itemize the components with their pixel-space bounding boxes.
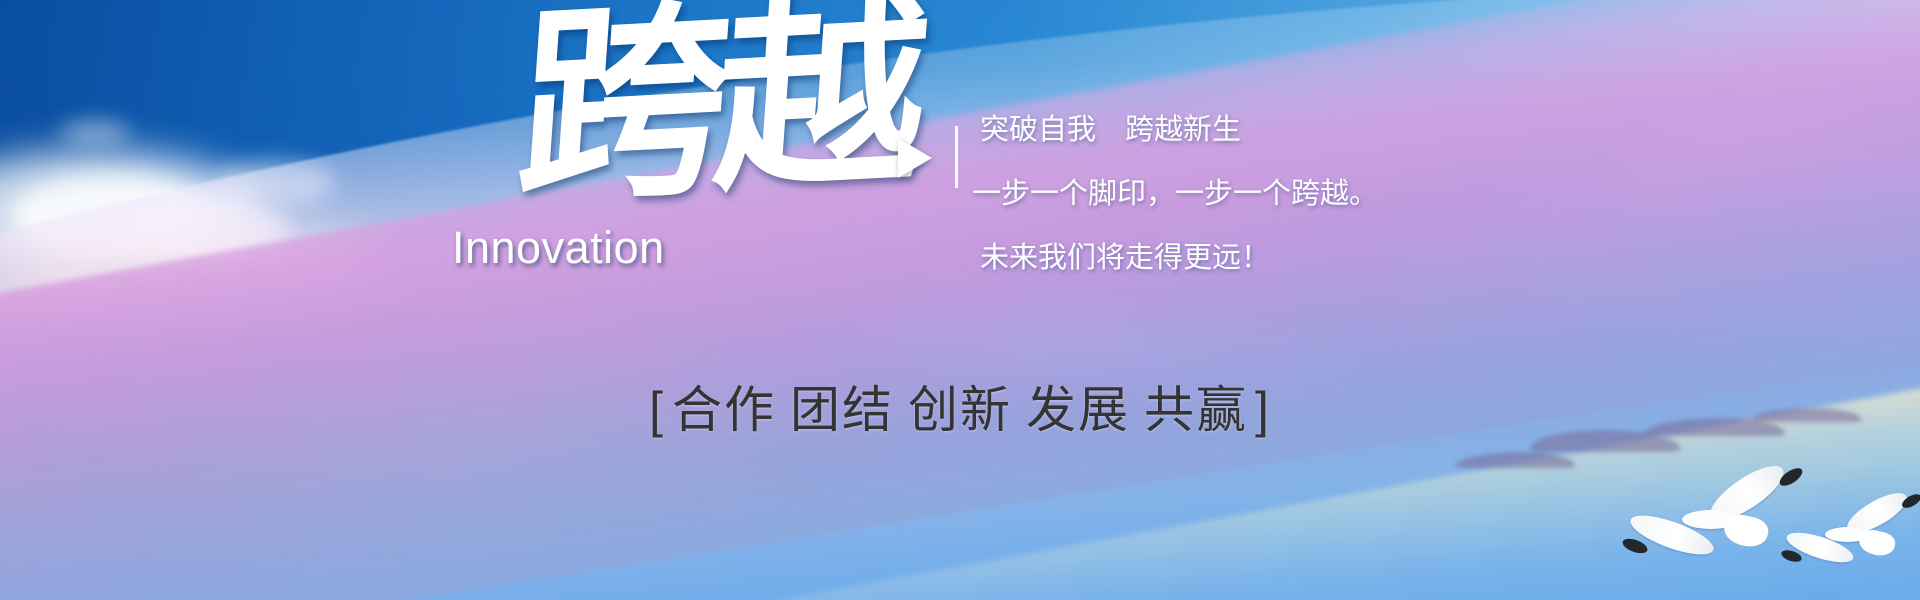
vertical-divider <box>955 126 958 188</box>
tagline-line-1: 突破自我 跨越新生 <box>980 116 1378 145</box>
slogan-word-2: 团结 <box>790 382 894 438</box>
banner-stage: 跨越 Innovation 突破自我 跨越新生 一步一个脚印，一步一个跨越。 未… <box>0 0 1920 600</box>
slogan-word-1: 合作 <box>672 382 776 438</box>
slogan-open-bracket: [ <box>649 382 665 438</box>
brand-calligraphy: 跨越 <box>503 0 928 334</box>
slogan-word-4: 发展 <box>1026 382 1130 438</box>
brand-latin-word: Innovation <box>452 222 665 274</box>
banner-content: 跨越 Innovation 突破自我 跨越新生 一步一个脚印，一步一个跨越。 未… <box>0 0 1920 600</box>
slogan-word-5: 共赢 <box>1144 382 1248 438</box>
slogan-bar: [合作团结创新发展共赢] <box>0 370 1920 442</box>
tagline-line-3: 未来我们将走得更远！ <box>980 244 1378 273</box>
slogan-close-bracket: ] <box>1255 382 1271 438</box>
tagline-block: 突破自我 跨越新生 一步一个脚印，一步一个跨越。 未来我们将走得更远！ <box>980 116 1378 273</box>
play-triangle-icon <box>898 138 932 178</box>
tagline-line-2: 一步一个脚印，一步一个跨越。 <box>972 180 1378 209</box>
slogan-word-3: 创新 <box>908 382 1012 438</box>
